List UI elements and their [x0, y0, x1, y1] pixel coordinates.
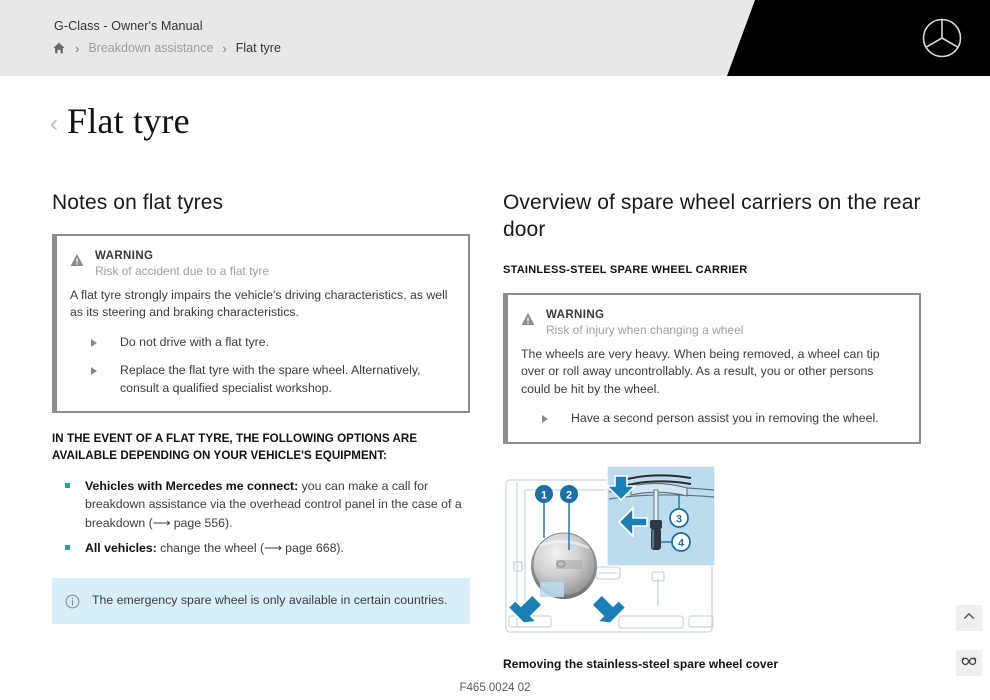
svg-text:3: 3	[676, 513, 682, 525]
info-box-text: The emergency spare wheel is only availa…	[92, 592, 447, 609]
warning-action-list: Do not drive with a flat tyre. Replace t…	[70, 334, 454, 397]
warning-box-wheel-change: WARNING Risk of injury when changing a w…	[503, 293, 921, 444]
owners-manual-page: G-Class - Owner's Manual › Breakdown ass…	[0, 0, 990, 700]
figure-caption: Removing the stainless-steel spare wheel…	[503, 657, 921, 671]
warning-label: WARNING	[546, 309, 743, 321]
square-bullet-icon	[65, 483, 70, 488]
warning-body-text: A flat tyre strongly impairs the vehicle…	[70, 287, 454, 322]
warning-label: WARNING	[95, 250, 269, 262]
list-item: Do not drive with a flat tyre.	[70, 334, 454, 351]
back-chevron-icon[interactable]: ‹	[50, 112, 58, 136]
list-item: All vehicles: change the wheel (⟶ page 6…	[52, 539, 470, 557]
list-item-label: change the wheel (⟶ page 668).	[157, 541, 344, 555]
triangle-bullet-icon	[91, 339, 97, 347]
mercedes-star-icon	[920, 16, 964, 60]
warning-body-text: The wheels are very heavy. When being re…	[521, 346, 905, 398]
manual-title: G-Class - Owner's Manual	[54, 19, 203, 33]
breadcrumb-item-flat-tyre: Flat tyre	[236, 41, 281, 55]
warning-subtitle: Risk of injury when changing a wheel	[546, 323, 743, 337]
list-item: Replace the flat tyre with the spare whe…	[70, 362, 454, 397]
spare-wheel-cover-diagram: 1 2	[503, 466, 719, 644]
warning-box-flat-tyre: WARNING Risk of accident due to a flat t…	[52, 234, 470, 413]
warning-action-list: Have a second person assist you in remov…	[521, 410, 905, 427]
page-header: G-Class - Owner's Manual › Breakdown ass…	[0, 0, 990, 76]
tools-button[interactable]	[956, 650, 982, 676]
triangle-bullet-icon	[542, 415, 548, 423]
right-subheading: STAINLESS-STEEL SPARE WHEEL CARRIER	[503, 264, 921, 276]
info-circle-icon	[65, 594, 80, 609]
page-title-row: ‹ Flat tyre	[50, 100, 190, 142]
info-box-emergency-spare-wheel: The emergency spare wheel is only availa…	[52, 578, 470, 623]
figure-spare-wheel-cover: 1 2	[503, 466, 921, 671]
warning-triangle-icon	[521, 312, 535, 326]
svg-text:2: 2	[566, 489, 572, 501]
svg-text:1: 1	[541, 489, 547, 501]
breadcrumb-item-breakdown-assistance[interactable]: Breakdown assistance	[88, 41, 213, 55]
list-item-lead: Vehicles with Mercedes me connect:	[85, 479, 298, 493]
warning-subtitle: Risk of accident due to a flat tyre	[95, 264, 269, 278]
right-section-heading: Overview of spare wheel carriers on the …	[503, 190, 921, 244]
warning-header: WARNING Risk of accident due to a flat t…	[70, 250, 454, 278]
glasses-icon	[961, 653, 977, 674]
warning-header: WARNING Risk of injury when changing a w…	[521, 309, 905, 337]
square-bullet-icon	[65, 545, 70, 550]
home-icon[interactable]	[52, 41, 66, 55]
breadcrumb-separator-2: ›	[222, 42, 226, 55]
page-title: Flat tyre	[67, 100, 190, 142]
chevron-up-icon	[962, 609, 976, 628]
list-item: Vehicles with Mercedes me connect: you c…	[52, 477, 470, 532]
list-item-label: Replace the flat tyre with the spare whe…	[120, 363, 421, 394]
list-item-label: Do not drive with a flat tyre.	[120, 335, 269, 349]
options-list: Vehicles with Mercedes me connect: you c…	[52, 477, 470, 558]
left-column: Notes on flat tyres WARNING Risk of acci…	[52, 190, 470, 624]
triangle-bullet-icon	[91, 367, 97, 375]
left-section-heading: Notes on flat tyres	[52, 190, 470, 217]
list-item-lead: All vehicles:	[85, 541, 157, 555]
right-column: Overview of spare wheel carriers on the …	[503, 190, 921, 671]
scroll-to-top-button[interactable]	[956, 605, 982, 631]
breadcrumb-separator-1: ›	[75, 42, 79, 55]
list-item: Have a second person assist you in remov…	[521, 410, 905, 427]
footer-document-code: F465 0024 02	[0, 682, 990, 694]
warning-triangle-icon	[70, 253, 84, 267]
svg-text:4: 4	[678, 537, 685, 549]
breadcrumb: › Breakdown assistance › Flat tyre	[52, 41, 281, 55]
options-heading: IN THE EVENT OF A FLAT TYRE, THE FOLLOWI…	[52, 431, 470, 465]
list-item-label: Have a second person assist you in remov…	[571, 411, 879, 425]
